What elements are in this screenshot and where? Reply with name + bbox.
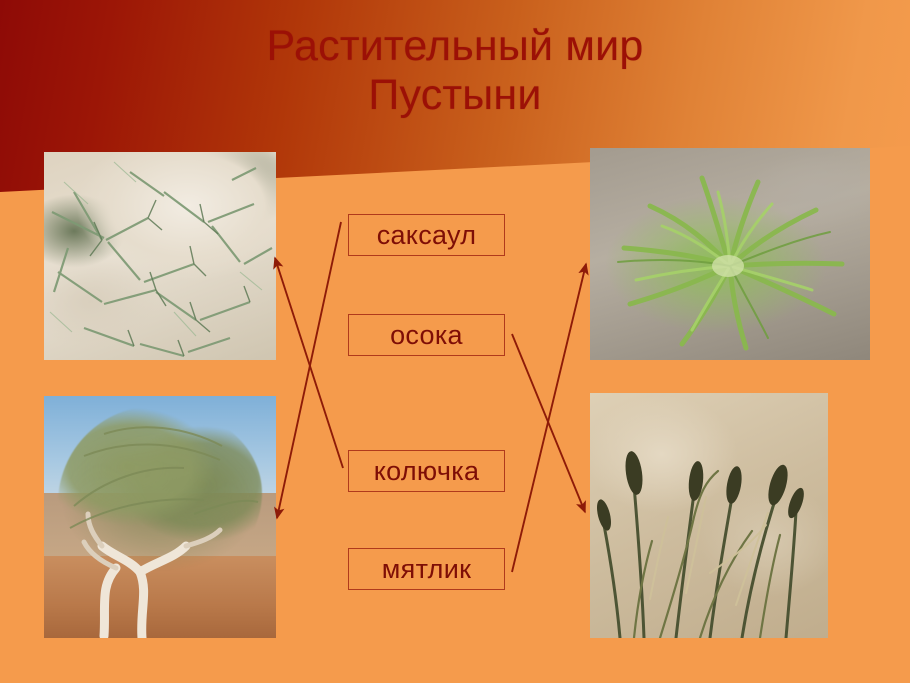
slide-canvas: Растительный мир Пустыни bbox=[0, 0, 910, 683]
label-saksaul[interactable]: саксаул bbox=[348, 214, 505, 256]
label-kolyuchka-text: колючка bbox=[374, 456, 480, 487]
arrow-myatlik-to-top-right bbox=[512, 264, 586, 572]
arrow-saksaul-to-bottom-left bbox=[277, 222, 341, 518]
label-osoka-text: осока bbox=[390, 320, 463, 351]
label-myatlik-text: мятлик bbox=[382, 554, 471, 585]
label-saksaul-text: саксаул bbox=[377, 220, 477, 251]
label-myatlik[interactable]: мятлик bbox=[348, 548, 505, 590]
arrow-kolyuchka-to-top-left bbox=[275, 258, 343, 468]
label-kolyuchka[interactable]: колючка bbox=[348, 450, 505, 492]
label-osoka[interactable]: осока bbox=[348, 314, 505, 356]
